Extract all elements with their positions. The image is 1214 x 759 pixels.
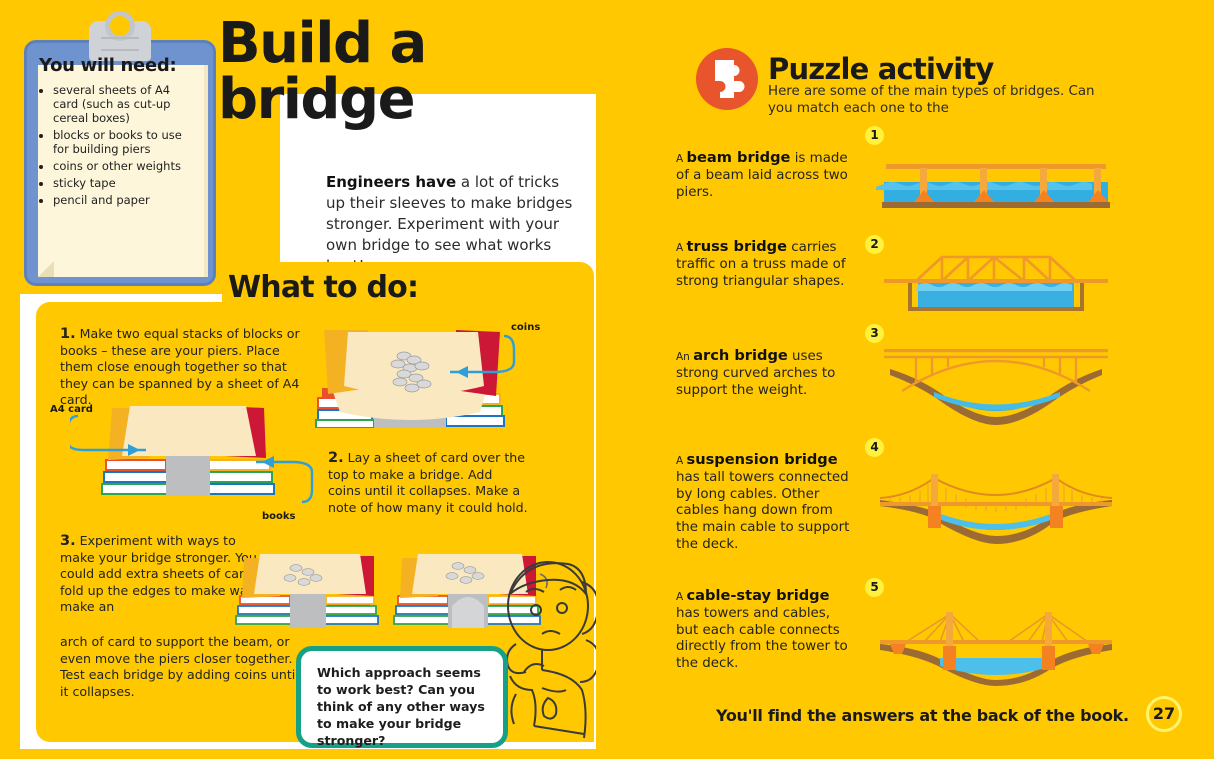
bridge-description-5: A cable-stay bridge has towers and cable… bbox=[676, 588, 852, 673]
list-item: pencil and paper bbox=[53, 193, 193, 207]
step-3-number: 3. bbox=[60, 533, 76, 549]
bottom-strip bbox=[0, 749, 614, 759]
bridge-4-article: A bbox=[676, 455, 687, 467]
clipboard: You will need: several sheets of A4 card… bbox=[24, 40, 216, 286]
bridge-illustration-suspension bbox=[876, 450, 1116, 550]
spread-page: Build a bridge You will need: several sh… bbox=[0, 0, 1214, 759]
you-will-need-heading: You will need: bbox=[39, 55, 176, 76]
bridge-1-name: beam bridge bbox=[687, 149, 791, 166]
bridge-5-article: A bbox=[676, 591, 687, 603]
list-item: coins or other weights bbox=[53, 159, 193, 173]
step-1-number: 1. bbox=[60, 326, 76, 342]
materials-list: several sheets of A4 card (such as cut-u… bbox=[53, 83, 193, 210]
left-page: Build a bridge You will need: several sh… bbox=[0, 0, 614, 759]
bridge-3-article: An bbox=[676, 351, 693, 363]
answers-note: You'll find the answers at the back of t… bbox=[716, 706, 1129, 725]
list-item: several sheets of A4 card (such as cut-u… bbox=[53, 83, 193, 125]
bridge-5-name: cable-stay bridge bbox=[687, 587, 830, 604]
page-number: 27 bbox=[1146, 696, 1182, 732]
bridge-4-text: has tall towers connected by long cables… bbox=[676, 470, 849, 552]
page-title: Build a bridge bbox=[218, 16, 614, 128]
bridge-1-article: A bbox=[676, 153, 687, 165]
step-3-continued: arch of card to support the beam, or eve… bbox=[60, 634, 310, 700]
what-to-do-title: What to do: bbox=[228, 270, 418, 305]
question-bubble-text: Which approach seems to work best? Can y… bbox=[317, 664, 499, 749]
step-1: 1. Make two equal stacks of blocks or bo… bbox=[60, 326, 316, 409]
bridge-illustration-truss bbox=[876, 245, 1116, 317]
puzzle-activity-heading: Puzzle activity bbox=[768, 52, 994, 86]
right-page: Puzzle activity Here are some of the mai… bbox=[614, 0, 1214, 759]
bridge-description-1: A beam bridge is made of a beam laid acr… bbox=[676, 150, 852, 201]
bridge-description-4: A suspension bridge has tall towers conn… bbox=[676, 452, 852, 554]
illustration-card-with-coins bbox=[308, 316, 518, 428]
illustration-a4-card-on-books bbox=[70, 398, 320, 518]
puzzle-activity-subtitle: Here are some of the main types of bridg… bbox=[768, 84, 1098, 117]
bridge-description-3: An arch bridge uses strong curved arches… bbox=[676, 348, 852, 399]
bridge-5-text: has towers and cables, but each cable co… bbox=[676, 606, 848, 671]
clip-lines-icon bbox=[101, 37, 139, 51]
illustration-reinforced-bridge-flat bbox=[224, 548, 394, 638]
puzzle-piece-icon bbox=[696, 48, 758, 110]
page-spine bbox=[596, 0, 614, 759]
list-item: sticky tape bbox=[53, 176, 193, 190]
bridge-3-name: arch bridge bbox=[693, 347, 788, 364]
bridge-2-article: A bbox=[676, 242, 687, 254]
bridge-description-2: A truss bridge carries traffic on a trus… bbox=[676, 239, 852, 290]
list-item: blocks or books to use for building pier… bbox=[53, 128, 193, 156]
step-2: 2. Lay a sheet of card over the top to m… bbox=[328, 450, 528, 516]
intro-lead: Engineers have bbox=[326, 173, 456, 191]
bridge-4-name: suspension bridge bbox=[687, 451, 838, 468]
bridge-2-name: truss bridge bbox=[687, 238, 787, 255]
bridge-illustration-arch bbox=[876, 335, 1116, 427]
bridge-illustration-cable-stay bbox=[876, 590, 1116, 690]
question-bubble: Which approach seems to work best? Can y… bbox=[296, 646, 508, 748]
step-2-text: Lay a sheet of card over the top to make… bbox=[328, 450, 528, 515]
bridge-illustration-beam bbox=[876, 140, 1116, 212]
step-2-number: 2. bbox=[328, 450, 344, 466]
step-1-text: Make two equal stacks of blocks or books… bbox=[60, 326, 300, 407]
